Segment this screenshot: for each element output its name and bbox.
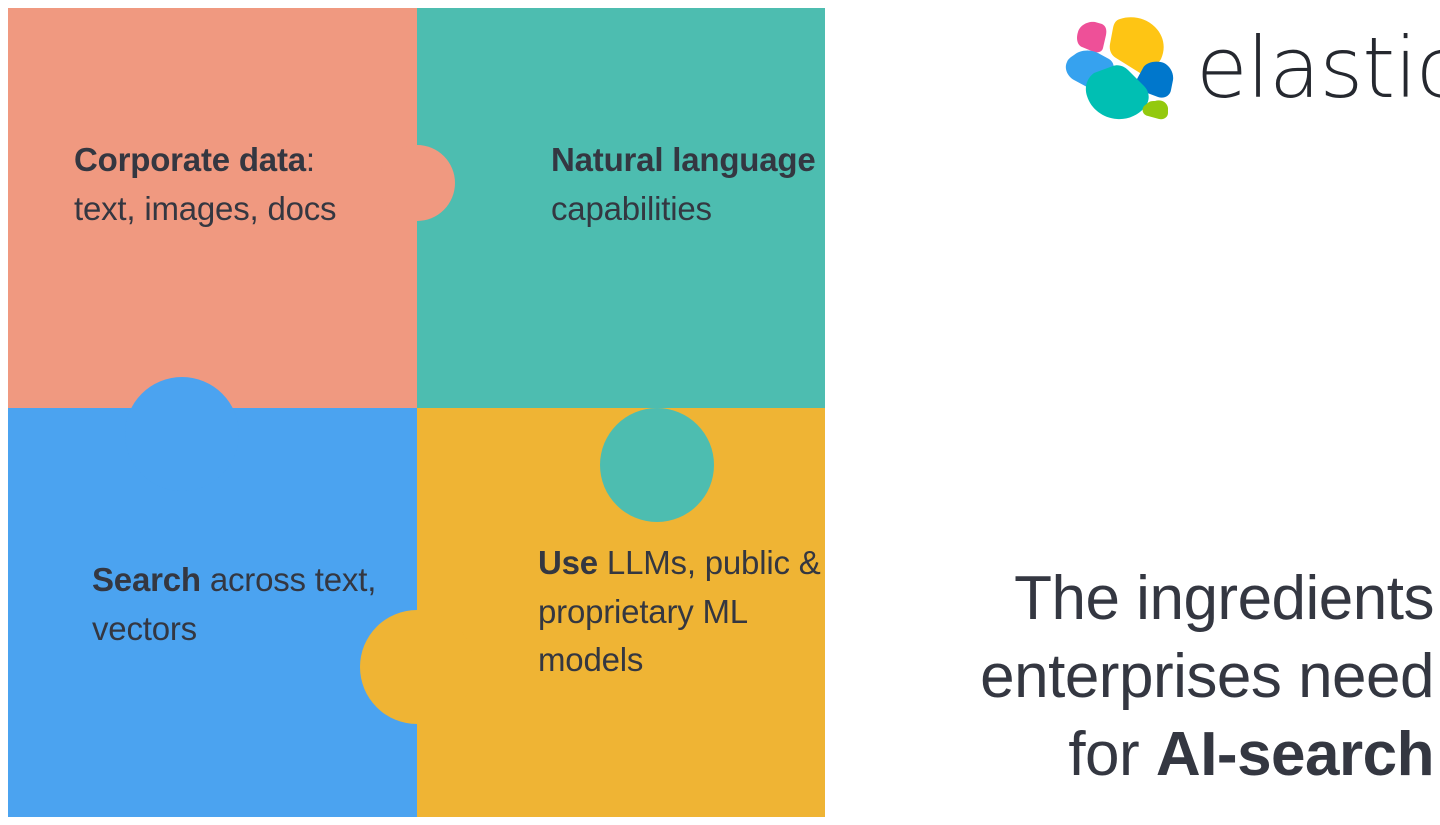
puzzle-label-llms-bold: Use [538,544,598,581]
puzzle-label-search-bold: Search [92,561,201,598]
tagline: The ingredients enterprises need for AI-… [814,560,1434,794]
brand-wordmark: elastic [1196,26,1440,110]
slide-canvas: Corporate data: text, images, docs Natur… [0,0,1440,825]
brand-lockup: elastic [1060,14,1432,122]
puzzle-knob-salmon-right [379,145,455,221]
puzzle-label-corporate-data: Corporate data: text, images, docs [74,136,374,233]
puzzle-knob-teal-down [600,408,714,522]
puzzle-diagram: Corporate data: text, images, docs Natur… [8,8,825,817]
puzzle-label-llms: Use LLMs, public & proprietary ML models [538,539,838,685]
puzzle-label-natural-language-bold: Natural language [551,141,816,178]
tagline-line-3-prefix: for [1068,720,1156,789]
puzzle-label-search: Search across text, vectors [92,556,392,653]
tagline-line-3-bold: AI-search [1156,720,1434,789]
puzzle-label-corporate-data-bold: Corporate data [74,141,306,178]
puzzle-label-natural-language: Natural language capabilities [551,136,851,233]
puzzle-knob-blue-up [125,377,239,491]
elastic-logo-icon [1060,16,1178,120]
tagline-line-1: The ingredients [1014,564,1434,633]
puzzle-label-natural-language-rest: capabilities [551,190,712,227]
tagline-line-2: enterprises need [980,642,1434,711]
